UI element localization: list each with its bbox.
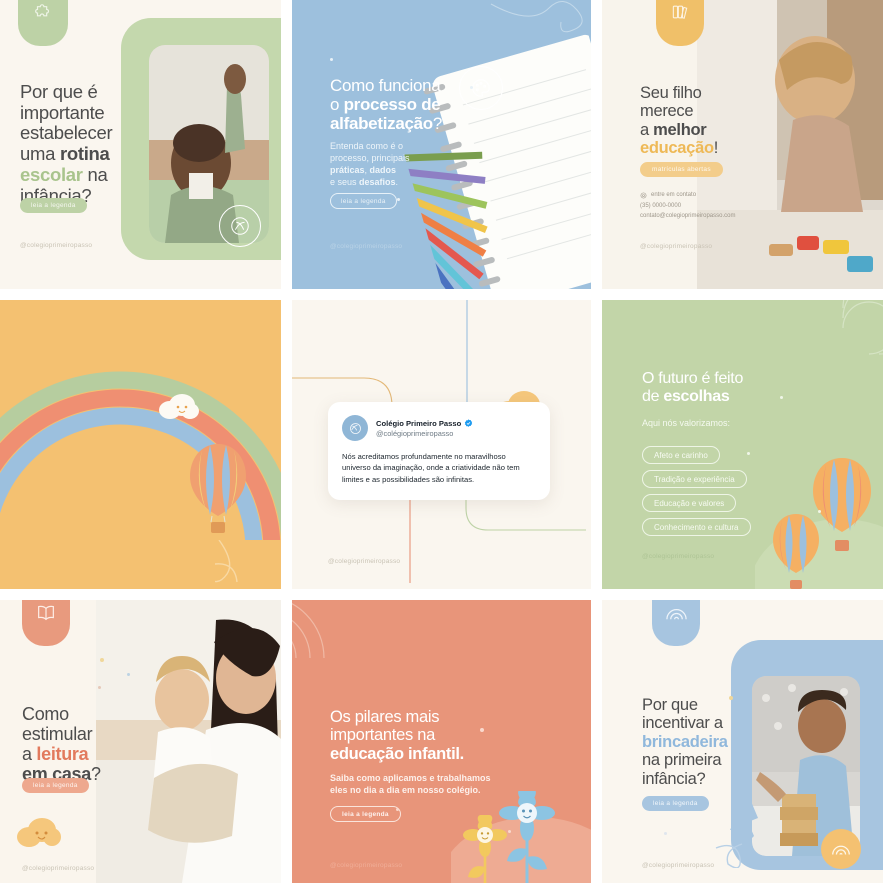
sparkle-dot (480, 728, 484, 732)
contact-phone: (35) 0000-0000 (640, 201, 735, 212)
contact-email: contato@colegioprimeiropasso.com (640, 211, 735, 222)
cloud-face-icon (156, 392, 200, 422)
brand-handle: @colegioprimeiropasso (20, 242, 92, 249)
cta-badge[interactable]: leia a legenda (642, 796, 709, 811)
contact-block: entre em contato (35) 0000-0000 contato@… (640, 190, 735, 222)
hot-air-balloon-illustration (188, 442, 248, 546)
contact-icon (640, 192, 647, 199)
flower-illustration (461, 815, 515, 883)
brand-handle: @colegioprimeiropasso (22, 865, 94, 872)
brand-handle: @colegioprimeiropasso (330, 862, 402, 869)
sparkle-dot (747, 452, 750, 455)
post-tile-brincadeira[interactable]: Por queincentivar abrincadeirana primeir… (602, 600, 883, 883)
cta-badge[interactable]: matrículas abertas (640, 162, 723, 177)
palette-icon (459, 66, 503, 110)
brand-logo-badge (821, 829, 861, 869)
post-headline: Comoestimulara leituraem casa? (22, 704, 101, 785)
post-headline: Como funcionao processo dealfabetização? (330, 76, 442, 133)
value-pill[interactable]: Afeto e carinho (642, 446, 720, 464)
value-pill[interactable]: Tradição e experiência (642, 470, 747, 488)
post-headline: Os pilares maisimportantes naeducação in… (330, 708, 464, 763)
sparkle-dot (729, 696, 733, 700)
rainbow-icon (652, 600, 700, 646)
tweet-body: Nós acreditamos profundamente no maravil… (342, 451, 535, 485)
cta-badge[interactable]: leia a legenda (22, 778, 89, 793)
post-headline: Por queincentivar abrincadeirana primeir… (642, 696, 728, 788)
post-tile-futuro-escolhas[interactable]: O futuro é feitode escolhas Aqui nós val… (602, 300, 883, 589)
photo-baby-with-blocks (697, 0, 883, 289)
cta-badge[interactable]: leia a legenda (330, 193, 397, 209)
photo-mother-reading-to-baby (96, 600, 281, 883)
cloud-face-icon (14, 815, 62, 849)
puzzle-icon (18, 0, 68, 46)
books-icon (656, 0, 704, 46)
brand-logo-watermark (219, 205, 261, 247)
post-subtext: Entenda como é oprocesso, principaisprát… (330, 140, 410, 189)
post-lead-text: Aqui nós valorizamos: (642, 418, 730, 428)
string-swirl-decoration (215, 540, 281, 589)
sparkle-dot (470, 86, 473, 89)
sparkle-dot (818, 510, 821, 513)
brand-handle: @colegioprimeiropasso (642, 862, 714, 869)
value-pill[interactable]: Conhecimento e cultura (642, 518, 751, 536)
post-headline: O futuro é feitode escolhas (642, 370, 743, 406)
concentric-arcs-decoration (292, 600, 372, 672)
brand-handle: @colegioprimeiropasso (328, 558, 400, 565)
concentric-arcs-decoration (779, 300, 883, 362)
verified-badge-icon (464, 419, 473, 428)
sparkle-dot (396, 808, 399, 811)
tweet-card[interactable]: Colégio Primeiro Passo @colégioprimeirop… (328, 402, 550, 500)
tweet-name-text: Colégio Primeiro Passo (376, 419, 461, 428)
brand-handle: @colegioprimeiropasso (642, 553, 714, 560)
sparkle-dot (98, 686, 101, 689)
sparkle-dot (330, 58, 333, 61)
brand-handle: @colegioprimeiropasso (330, 243, 402, 250)
post-headline: Seu filhomerecea melhoreducação! (640, 84, 718, 158)
contact-label: entre em contato (651, 190, 696, 201)
value-pill[interactable]: Educação e valores (642, 494, 736, 512)
instagram-feed-grid: Por que éimportanteestabeleceruma rotina… (0, 0, 883, 883)
post-tile-rotina-escolar[interactable]: Por que éimportanteestabeleceruma rotina… (0, 0, 281, 289)
values-pill-list: Afeto e carinho Tradição e experiência E… (642, 446, 751, 536)
brand-handle: @colegioprimeiropasso (640, 243, 712, 250)
post-headline: Por que éimportanteestabeleceruma rotina… (20, 82, 112, 206)
post-subtext: Saiba como aplicamos e trabalhamoseles n… (330, 772, 491, 796)
cta-badge[interactable]: leia a legenda (330, 806, 401, 822)
post-tile-pilares-educacao[interactable]: Os pilares maisimportantes naeducação in… (292, 600, 591, 883)
tweet-header: Colégio Primeiro Passo @colégioprimeirop… (342, 415, 535, 441)
post-tile-dia-das-criancas[interactable]: 12 de outubro Dia dasCrianças Dia de cel… (0, 300, 281, 589)
sparkle-dot (664, 832, 667, 835)
post-tile-tweet-imaginacao[interactable]: Colégio Primeiro Passo @colégioprimeirop… (292, 300, 591, 589)
sparkle-dot (780, 396, 783, 399)
avatar (342, 415, 368, 441)
tweet-username: @colégioprimeiropasso (376, 429, 473, 438)
post-tile-leitura-em-casa[interactable]: Comoestimulara leituraem casa? leia a le… (0, 600, 281, 883)
sparkle-dot (397, 198, 400, 201)
book-open-icon (22, 600, 70, 646)
sparkle-dot (508, 830, 511, 833)
cta-badge[interactable]: leia a legenda (20, 198, 87, 213)
post-tile-melhor-educacao[interactable]: Seu filhomerecea melhoreducação! matrícu… (602, 0, 883, 289)
hot-air-balloon-illustration (771, 512, 821, 589)
sparkle-dot (100, 658, 104, 662)
tweet-display-name: Colégio Primeiro Passo (376, 419, 473, 428)
sparkle-dot (127, 673, 130, 676)
post-tile-alfabetizacao[interactable]: Como funcionao processo dealfabetização?… (292, 0, 591, 289)
